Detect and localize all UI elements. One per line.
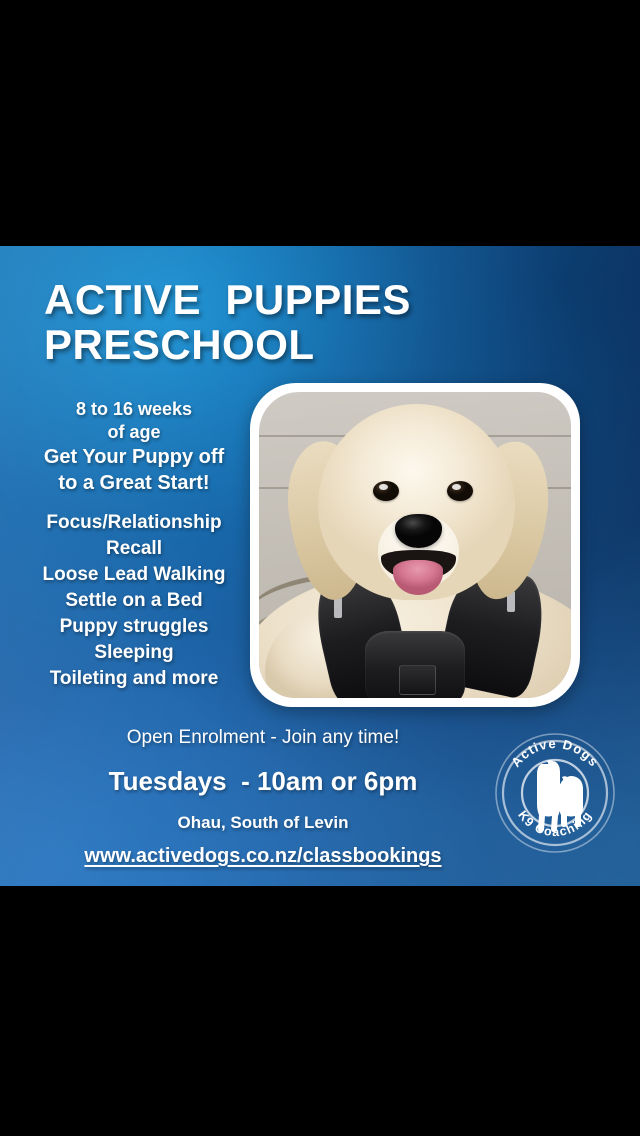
puppy-eye-left: [373, 481, 399, 501]
hook-line-2: to a Great Start!: [18, 470, 250, 496]
list-item: Toileting and more: [18, 666, 250, 692]
location-line: Ohau, South of Levin: [52, 813, 474, 833]
harness-reflective-strip: [334, 597, 342, 618]
headline-line-2: PRESCHOOL: [44, 323, 411, 368]
age-range-line-1: 8 to 16 weeks: [18, 398, 250, 421]
skills-list: Focus/Relationship Recall Loose Lead Wal…: [18, 510, 250, 692]
eye-glint: [379, 484, 388, 490]
letterbox-bottom: [0, 886, 640, 1136]
hook-line-1: Get Your Puppy off: [18, 444, 250, 470]
letterbox-top: [0, 0, 640, 246]
poster-viewport: ACTIVE PUPPIES PRESCHOOL 8 to 16 weeks o…: [0, 0, 640, 1136]
details-block: Open Enrolment - Join any time! Tuesdays…: [52, 726, 474, 868]
list-item: Recall: [18, 536, 250, 562]
copy-column: 8 to 16 weeks of age Get Your Puppy off …: [18, 398, 250, 692]
dog-silhouette-tall: [537, 760, 560, 832]
page-title: ACTIVE PUPPIES PRESCHOOL: [44, 278, 411, 368]
puppy-photo: [259, 392, 571, 698]
flyer-panel: ACTIVE PUPPIES PRESCHOOL 8 to 16 weeks o…: [0, 246, 640, 886]
schedule-line: Tuesdays - 10am or 6pm: [52, 766, 474, 797]
list-item: Puppy struggles: [18, 614, 250, 640]
puppy-photo-frame: [250, 383, 580, 707]
website-link[interactable]: www.activedogs.co.nz/classbookings: [84, 844, 441, 868]
enrolment-line: Open Enrolment - Join any time!: [52, 726, 474, 750]
list-item: Loose Lead Walking: [18, 562, 250, 588]
list-item: Focus/Relationship: [18, 510, 250, 536]
puppy-eye-right: [447, 481, 473, 501]
active-dogs-logo[interactable]: Active Dogs K9 Coaching: [492, 730, 618, 856]
eye-glint: [452, 484, 461, 490]
list-item: Sleeping: [18, 640, 250, 666]
harness-buckle: [399, 665, 435, 695]
headline-line-1: ACTIVE PUPPIES: [44, 278, 411, 323]
list-item: Settle on a Bed: [18, 588, 250, 614]
age-range-line-2: of age: [18, 421, 250, 444]
